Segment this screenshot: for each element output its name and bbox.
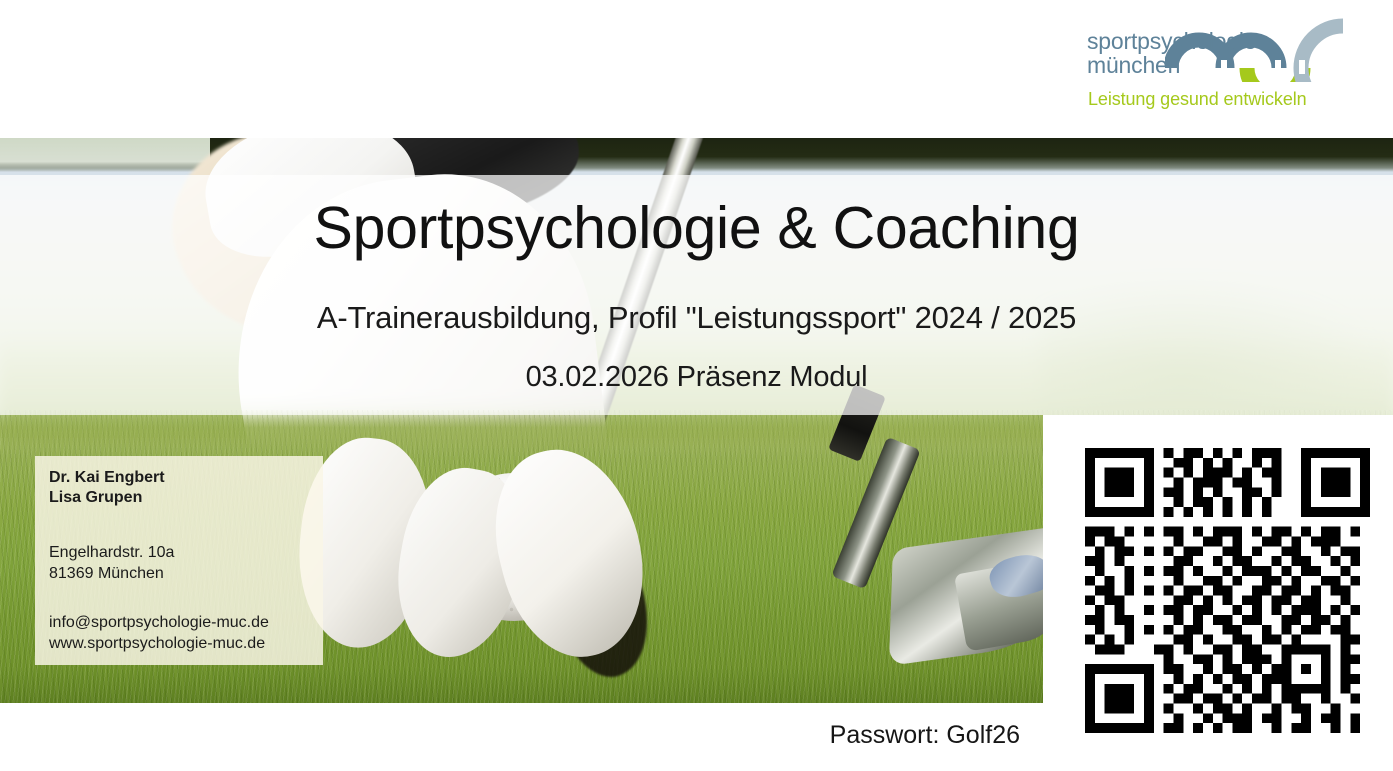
- logo-name-line-2: münchen: [1087, 54, 1256, 78]
- subtitle-date: 03.02.2026 Präsenz Modul: [0, 340, 1393, 398]
- contact-web: info@sportpsychologie-muc.de www.sportps…: [49, 584, 323, 654]
- contact-name-2: Lisa Grupen: [49, 489, 142, 506]
- logo-tagline: Leistung gesund entwickeln: [1088, 89, 1307, 109]
- password-text: Passwort: Golf26: [760, 719, 1020, 751]
- contact-names: Dr. Kai Engbert Lisa Grupen: [49, 468, 323, 508]
- contact-name-1: Dr. Kai Engbert: [49, 469, 165, 486]
- photo-top-left-light: [0, 138, 210, 172]
- slide-root: sportpsychologie münchen Leistung gesund…: [0, 0, 1393, 771]
- qr-code-icon[interactable]: [1085, 448, 1370, 733]
- company-logo: sportpsychologie münchen Leistung gesund…: [1087, 6, 1345, 118]
- contact-box: Dr. Kai Engbert Lisa Grupen Engelhardstr…: [35, 456, 323, 665]
- contact-address: Engelhardstr. 10a 81369 München: [49, 508, 323, 584]
- header-band: sportpsychologie münchen Leistung gesund…: [0, 0, 1393, 138]
- contact-email[interactable]: info@sportpsychologie-muc.de: [49, 614, 269, 631]
- contact-street: Engelhardstr. 10a: [49, 544, 174, 561]
- subtitle-course: A-Trainerausbildung, Profil "Leistungssp…: [0, 266, 1393, 340]
- contact-website[interactable]: www.sportpsychologie-muc.de: [49, 635, 265, 652]
- qr-panel: [1043, 415, 1393, 771]
- title-group: Sportpsychologie & Coaching A-Traineraus…: [0, 176, 1393, 398]
- page-title: Sportpsychologie & Coaching: [0, 176, 1393, 266]
- logo-wordmark: sportpsychologie münchen: [1087, 30, 1256, 77]
- contact-city: 81369 München: [49, 565, 164, 582]
- logo-name-line-1: sportpsychologie: [1087, 28, 1256, 54]
